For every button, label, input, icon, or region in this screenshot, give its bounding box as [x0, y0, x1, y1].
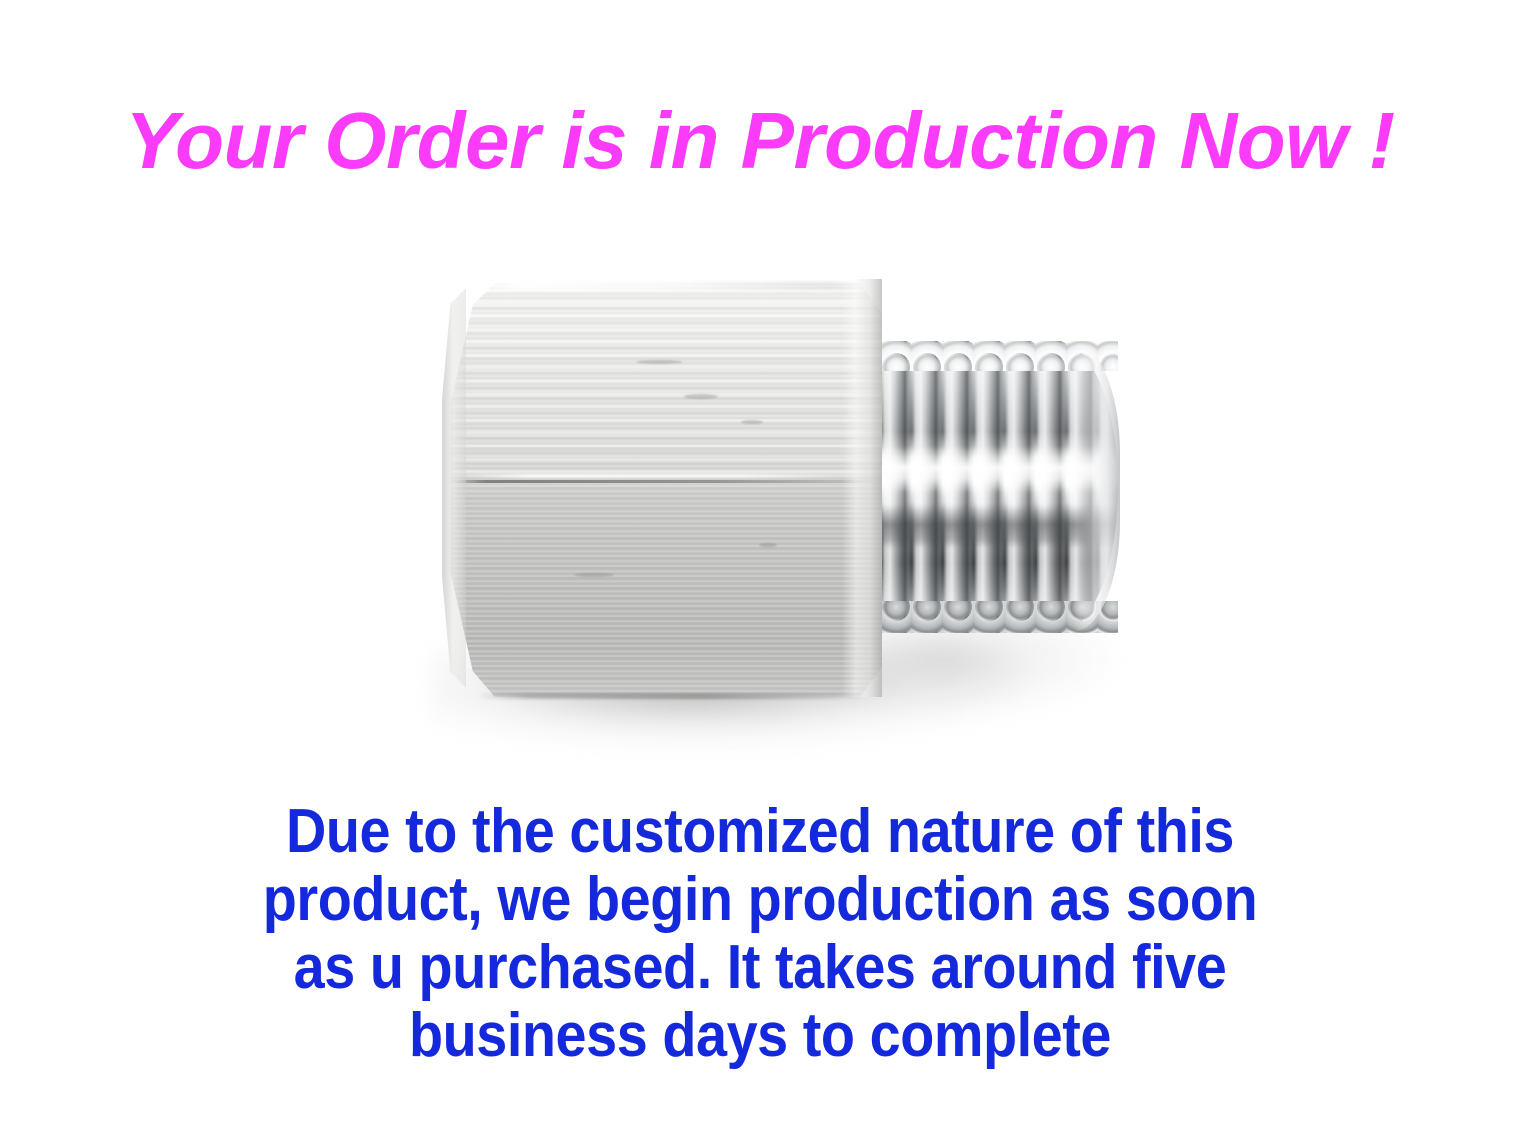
body-copy-line: as u purchased. It takes around five [175, 934, 1345, 1002]
page-title: Your Order is in Production Now ! [0, 96, 1520, 186]
body-copy: Due to the customized nature of this pro… [175, 798, 1345, 1070]
hex-bottom-edge [477, 693, 864, 699]
hex-facet-seam [451, 480, 882, 483]
body-copy-line: Due to the customized nature of this [175, 798, 1345, 866]
hex-surface-mark [741, 420, 763, 424]
hex-brushed-texture-upper [442, 275, 882, 484]
body-copy-line: product, we begin production as soon [175, 866, 1345, 934]
hex-body-surface [442, 275, 882, 701]
promo-banner: Your Order is in Production Now ! [0, 0, 1520, 1140]
hex-body [442, 275, 882, 701]
threaded-nipple [850, 341, 1118, 633]
hex-left-chamfer [442, 288, 466, 688]
hex-facet-glint [455, 474, 869, 478]
body-copy-line: business days to complete [175, 1002, 1345, 1070]
hex-right-chamfer [842, 279, 882, 696]
hex-top-bevel [473, 281, 860, 290]
product-photo [380, 235, 1180, 795]
